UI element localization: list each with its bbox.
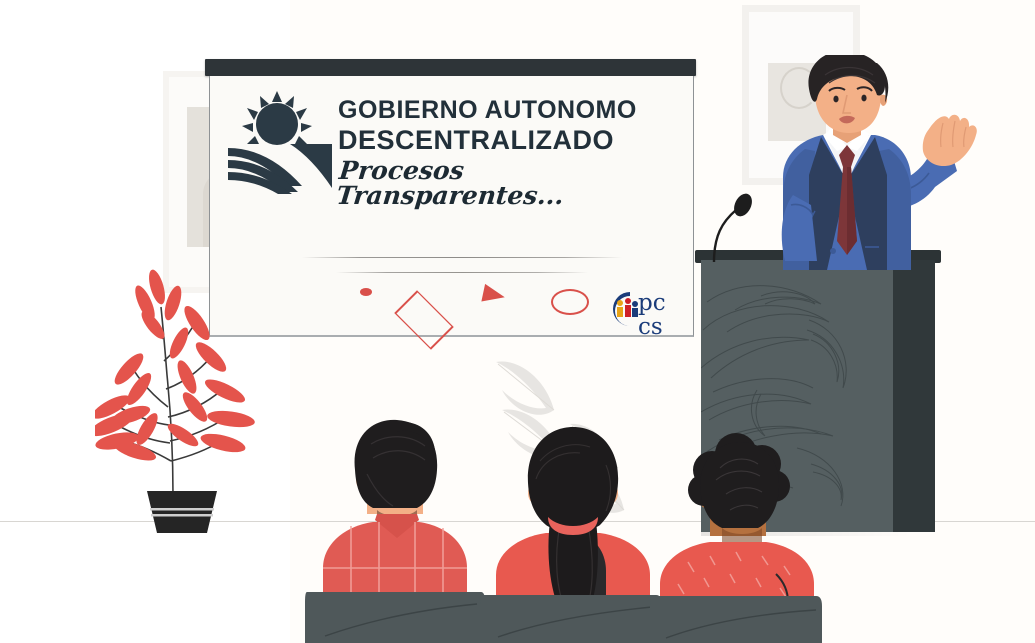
audience-hair	[688, 433, 790, 528]
audience-member-ponytail	[480, 425, 665, 643]
projection-screen: GOBIERNO AUTONOMO DESCENTRALIZADO Proces…	[205, 59, 696, 338]
audience-hair	[528, 427, 618, 531]
plant-pot	[147, 491, 217, 533]
red-ellipse-decoration	[551, 289, 589, 315]
cpccs-text-line1: pc	[638, 290, 666, 316]
slide-title-line1: GOBIERNO AUTONOMO	[338, 98, 683, 123]
audience-chair	[480, 595, 662, 643]
presenter-head	[808, 55, 888, 133]
cpccs-text-line2: cs	[638, 314, 663, 340]
slide-divider-bottom	[336, 272, 588, 273]
projection-screen-housing	[205, 59, 696, 76]
cpccs-logo: pc cs	[608, 282, 680, 340]
podium-side-panel	[893, 260, 935, 532]
projection-screen-surface: GOBIERNO AUTONOMO DESCENTRALIZADO Proces…	[209, 76, 694, 337]
red-triangle-decoration	[481, 284, 506, 306]
slide-tagline: Procesos Transparentes...	[335, 158, 685, 208]
audience-chair	[305, 592, 485, 643]
audience-member-plaid-shirt	[305, 418, 485, 643]
potted-plant	[95, 265, 270, 535]
presenter-hand	[923, 115, 977, 166]
slide-title-line2: DESCENTRALIZADO	[338, 127, 683, 154]
audience-member-curly-hair	[650, 432, 825, 643]
presentation-illustration: GOBIERNO AUTONOMO DESCENTRALIZADO Proces…	[0, 0, 1035, 643]
red-dot-decoration	[360, 288, 372, 296]
slide-title-block: GOBIERNO AUTONOMO DESCENTRALIZADO Proces…	[338, 98, 683, 208]
slide-divider-top	[302, 257, 622, 258]
gad-sun-field-logo	[228, 88, 336, 196]
presenter-at-podium	[705, 55, 995, 270]
